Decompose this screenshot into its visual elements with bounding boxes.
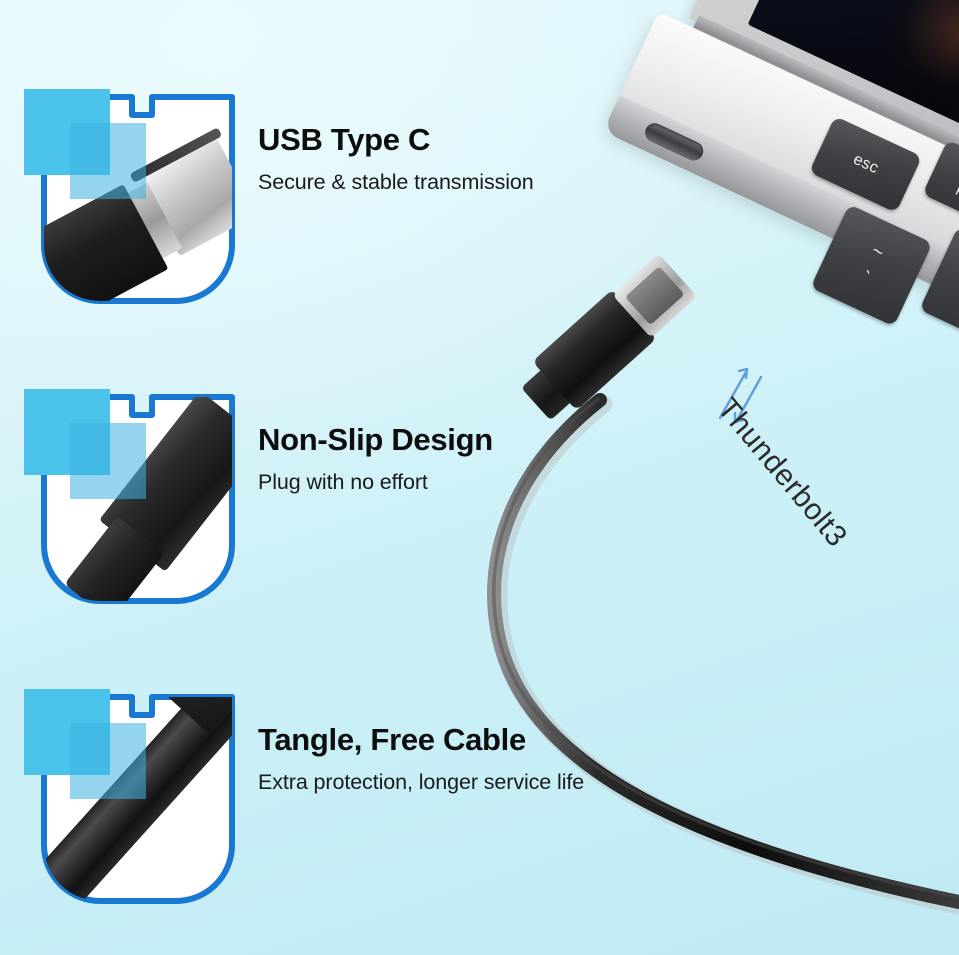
feature-text-2: Non-Slip Design Plug with no effort — [258, 423, 658, 496]
decorative-square-ghost-2 — [70, 423, 146, 499]
feature-subtitle-2: Plug with no effort — [258, 470, 658, 496]
infographic-canvas: esc F1 — [0, 0, 959, 955]
feature-text-1: USB Type C Secure & stable transmission — [258, 123, 658, 196]
feature-badge-1 — [18, 85, 242, 311]
feature-title-2: Non-Slip Design — [258, 423, 658, 457]
decorative-square-ghost-1 — [70, 123, 146, 199]
feature-subtitle-1: Secure & stable transmission — [258, 170, 658, 196]
feature-tangle-free-cable: Tangle, Free Cable Extra protection, lon… — [0, 685, 660, 925]
feature-non-slip-design: Non-Slip Design Plug with no effort — [0, 385, 660, 625]
feature-badge-3 — [18, 685, 242, 911]
feature-title-1: USB Type C — [258, 123, 658, 157]
feature-text-3: Tangle, Free Cable Extra protection, lon… — [258, 723, 658, 796]
feature-title-3: Tangle, Free Cable — [258, 723, 658, 757]
decorative-square-ghost-3 — [70, 723, 146, 799]
feature-badge-2 — [18, 385, 242, 611]
feature-subtitle-3: Extra protection, longer service life — [258, 770, 658, 796]
feature-usb-type-c: USB Type C Secure & stable transmission — [0, 85, 660, 325]
